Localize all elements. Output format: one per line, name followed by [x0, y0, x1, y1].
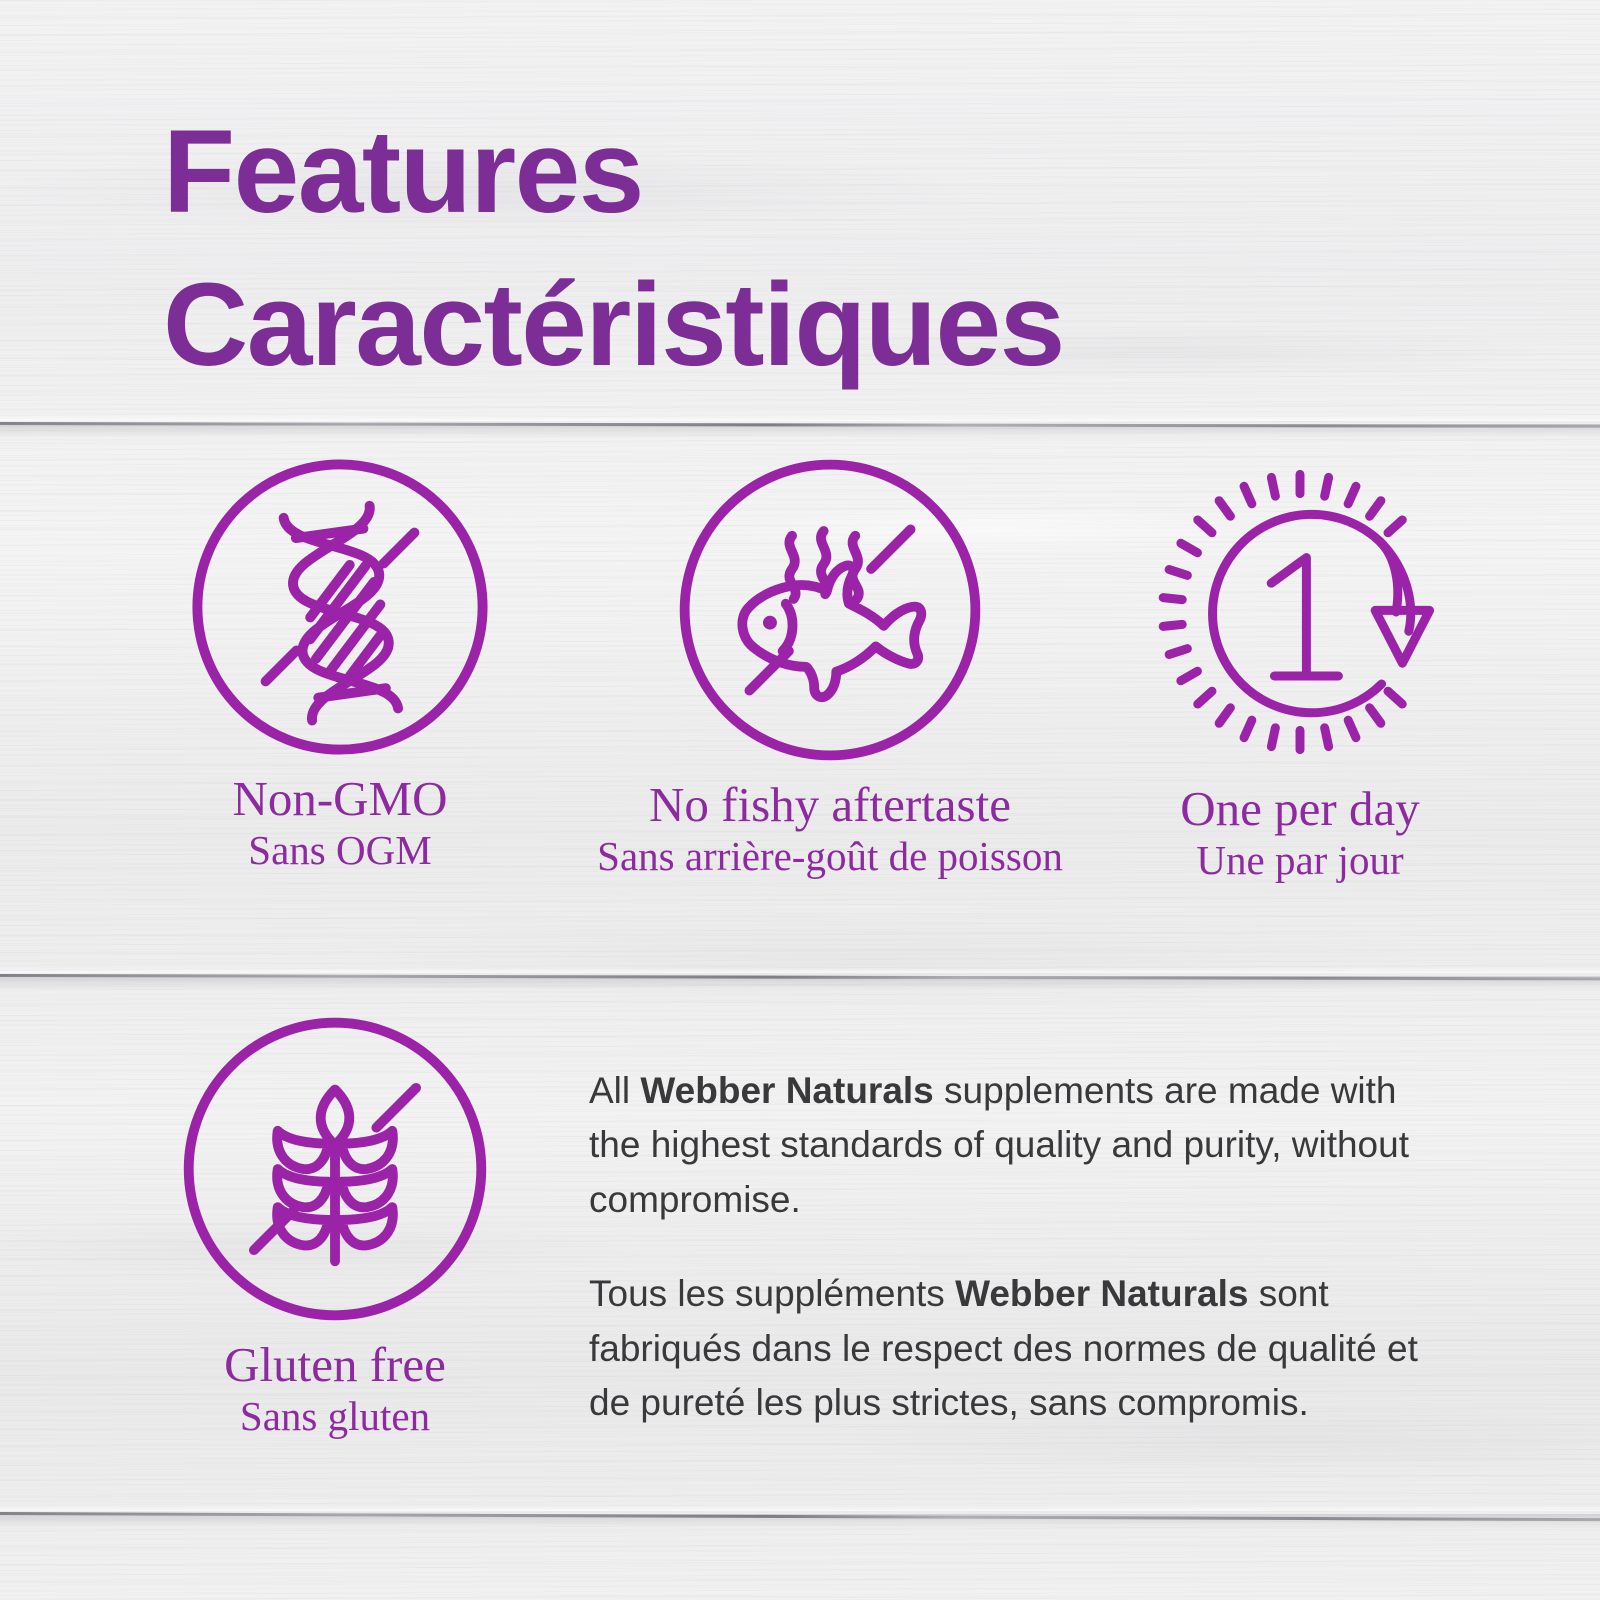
copy-en-before: All [589, 1070, 640, 1111]
copy-paragraph-fr: Tous les suppléments Webber Naturals son… [589, 1267, 1439, 1430]
features-infographic: Features Caractéristiques [0, 0, 1600, 1600]
copy-paragraph-en: All Webber Naturals supplements are made… [589, 1064, 1439, 1227]
brand-name-en: Webber Naturals [640, 1070, 933, 1111]
page-title-en: Features [163, 96, 1463, 249]
feature-label-fr: Sans arrière-goût de poisson [520, 832, 1140, 880]
no-fish-smell-icon [520, 452, 1140, 768]
feature-one-per-day: One per day Une par jour [1050, 452, 1550, 884]
page-title: Features Caractéristiques [163, 96, 1463, 403]
brand-quality-copy: All Webber Naturals supplements are made… [589, 1064, 1439, 1430]
plank-seam-middle [0, 972, 1600, 981]
page-title-fr: Caractéristiques [163, 249, 1463, 402]
one-per-day-icon [1050, 452, 1550, 772]
plank-seam-top [0, 420, 1600, 429]
plank-seam-bottom [0, 1510, 1600, 1519]
feature-label-fr: Sans gluten [55, 1392, 615, 1440]
feature-label-fr: Une par jour [1050, 836, 1550, 884]
feature-label-en: No fishy aftertaste [520, 778, 1140, 832]
feature-label-en: One per day [1050, 782, 1550, 836]
no-gluten-wheat-icon [55, 1010, 615, 1328]
feature-label-en: Gluten free [55, 1338, 615, 1392]
brand-name-fr: Webber Naturals [955, 1273, 1248, 1314]
feature-no-fishy-aftertaste: No fishy aftertaste Sans arrière-goût de… [520, 452, 1140, 880]
copy-fr-before: Tous les suppléments [589, 1273, 955, 1314]
feature-gluten-free: Gluten free Sans gluten [55, 1010, 615, 1440]
